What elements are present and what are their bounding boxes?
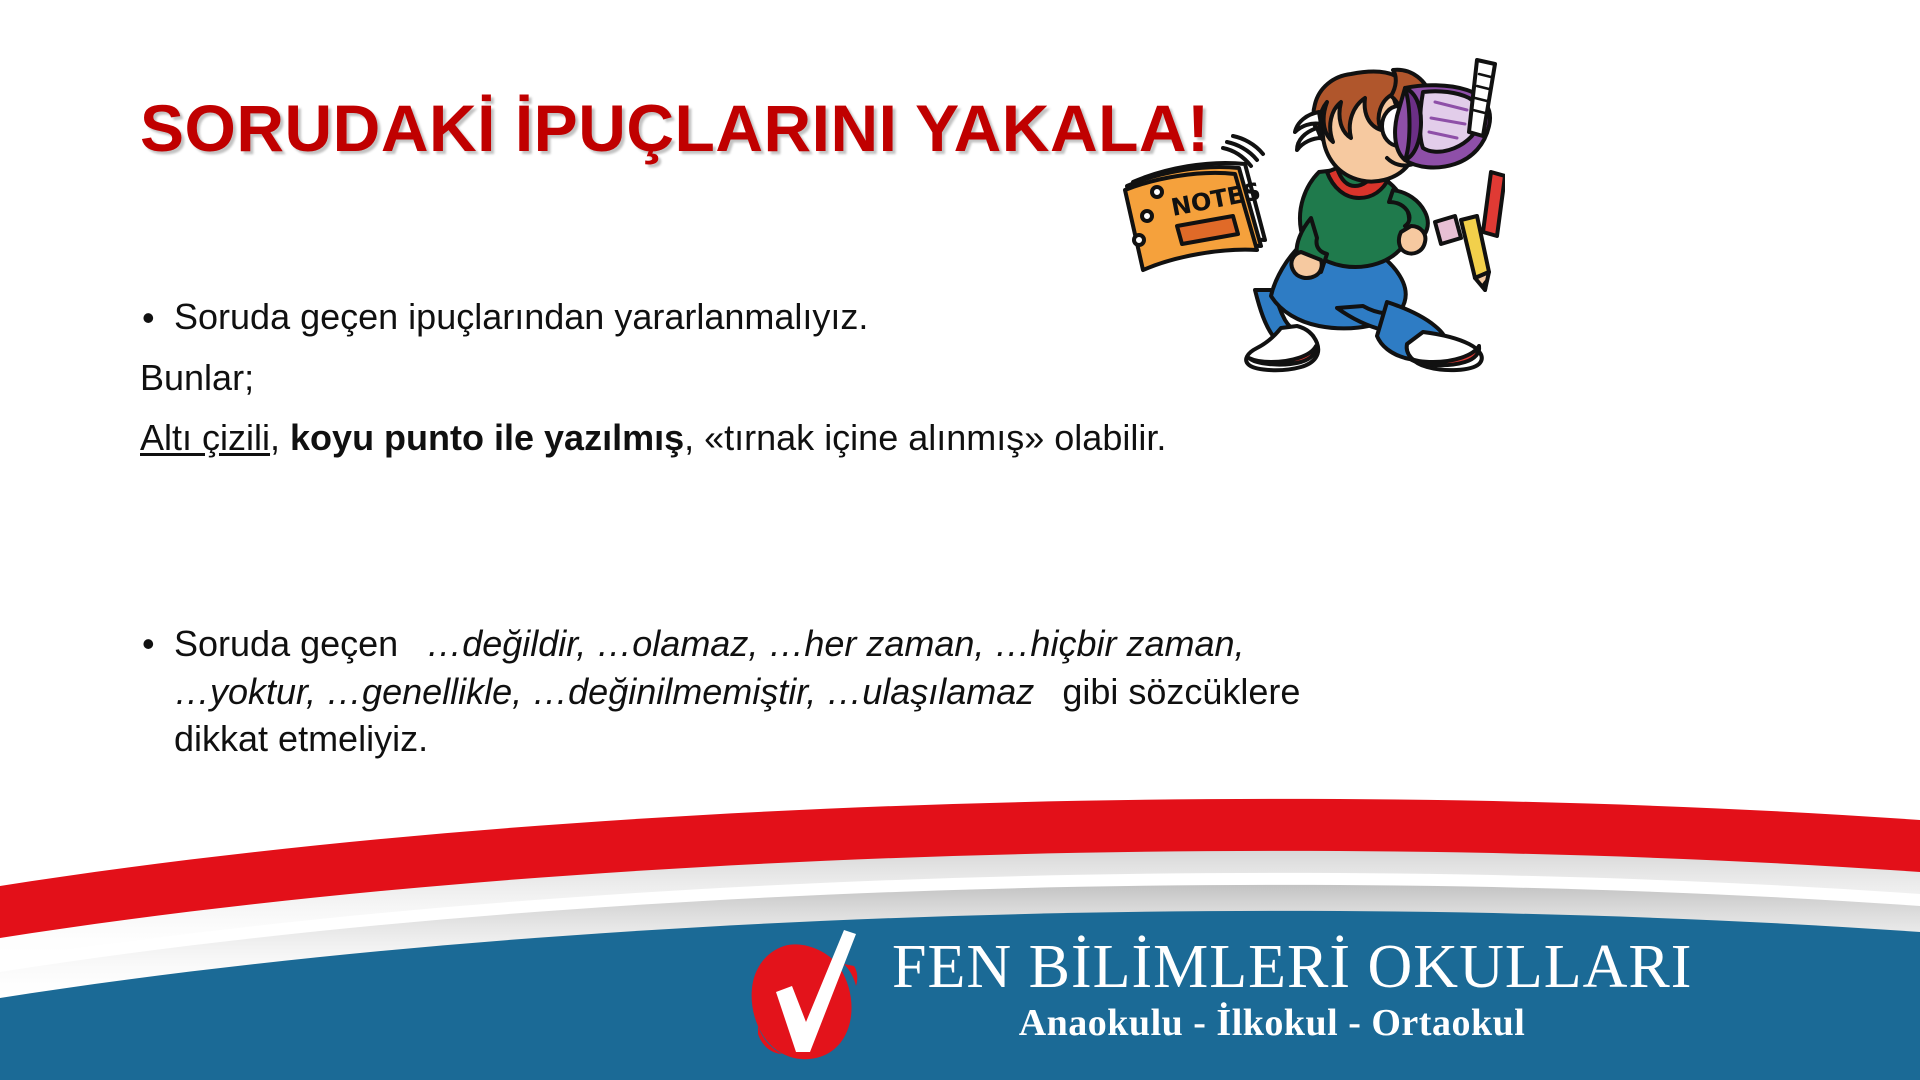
body-text-block-2: • Soruda geçen…değildir, …olamaz, …her z… — [140, 620, 1840, 763]
bullet-item-2-tail-2: dikkat etmeliyiz. — [174, 718, 428, 759]
underlined-example-text: Altı çizili — [140, 417, 270, 458]
red-checkmark-brush-logo-icon — [740, 930, 890, 1070]
paragraph-formatting-types: Altı çizili, koyu punto ile yazılmış, «t… — [140, 411, 1190, 466]
school-name: FEN BİLİMLERİ OKULLARI — [892, 936, 1652, 999]
quoted-example-text: , «tırnak içine alınmış» olabilir. — [684, 417, 1166, 458]
bold-example-text: koyu punto ile yazılmış — [290, 417, 684, 458]
paragraph-bunlar-text: Bunlar; — [140, 357, 254, 398]
body-text-block-1: • Soruda geçen ipuçlarından yararlanmalı… — [140, 290, 1190, 472]
page-title: SORUDAKİ İPUÇLARINI YAKALA! — [140, 90, 1210, 166]
separator-comma-1: , — [270, 417, 290, 458]
keyword-list-line-1: …değildir, …olamaz, …her zaman, …hiçbir … — [426, 623, 1244, 664]
bullet-glyph: • — [142, 620, 155, 668]
school-logo-text: FEN BİLİMLERİ OKULLARI Anaokulu - İlkoku… — [892, 936, 1652, 1045]
school-logo: FEN BİLİMLERİ OKULLARI Anaokulu - İlkoku… — [740, 930, 1660, 1070]
paragraph-bunlar: Bunlar; — [140, 351, 1190, 406]
bullet-glyph: • — [142, 291, 155, 346]
bullet-item-2: • Soruda geçen…değildir, …olamaz, …her z… — [140, 620, 1840, 763]
red-swoosh-band — [0, 799, 1920, 938]
bullet-item-2-tail-1: gibi sözcüklere — [1062, 671, 1300, 712]
keyword-list-line-2: …yoktur, …genellikle, …değinilmemiştir, … — [174, 671, 1034, 712]
bullet-item-2-lead: Soruda geçen — [174, 623, 398, 664]
slide-canvas: SORUDAKİ İPUÇLARINI YAKALA! — [0, 0, 1920, 1080]
bullet-item-1: • Soruda geçen ipuçlarından yararlanmalı… — [140, 290, 1190, 345]
school-levels: Anaokulu - İlkokul - Ortaokul — [892, 1001, 1652, 1045]
bullet-item-1-text: Soruda geçen ipuçlarından yararlanmalıyı… — [174, 296, 868, 337]
